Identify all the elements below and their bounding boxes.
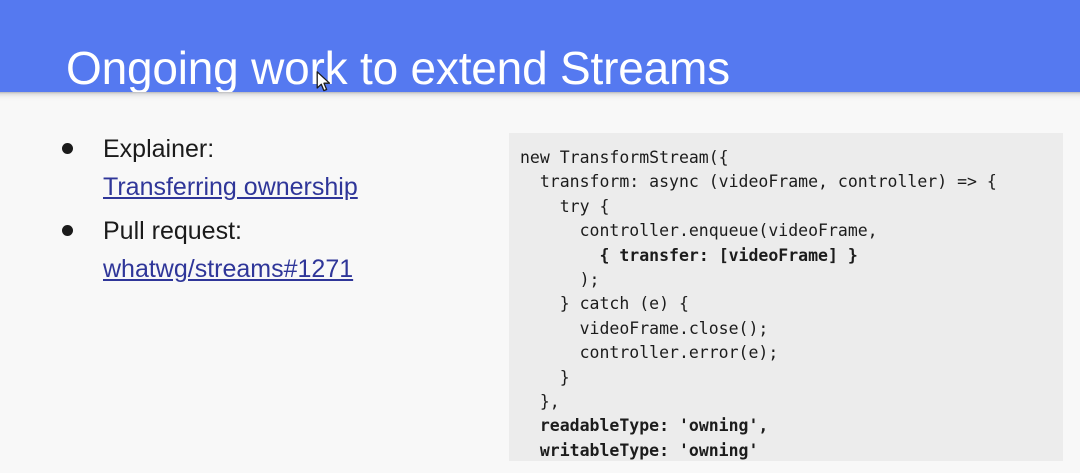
page-title: Ongoing work to extend Streams <box>66 37 730 99</box>
list-item: Explainer: Transferring ownership <box>56 130 476 206</box>
code-sample-block: new TransformStream({ transform: async (… <box>509 133 1063 461</box>
bullet-label: Explainer: <box>103 130 476 168</box>
slide-header-bar: Ongoing work to extend Streams <box>0 0 1080 92</box>
bullet-list: Explainer: Transferring ownership Pull r… <box>56 130 476 294</box>
pull-request-link[interactable]: whatwg/streams#1271 <box>103 250 353 288</box>
explainer-link[interactable]: Transferring ownership <box>103 168 358 206</box>
presentation-slide: Ongoing work to extend Streams Explainer… <box>0 0 1080 473</box>
bullet-point-icon <box>62 143 73 154</box>
code-sample-text: new TransformStream({ transform: async (… <box>520 146 1063 461</box>
list-item: Pull request: whatwg/streams#1271 <box>56 212 476 288</box>
bullet-point-icon <box>62 225 73 236</box>
bullet-label: Pull request: <box>103 212 476 250</box>
